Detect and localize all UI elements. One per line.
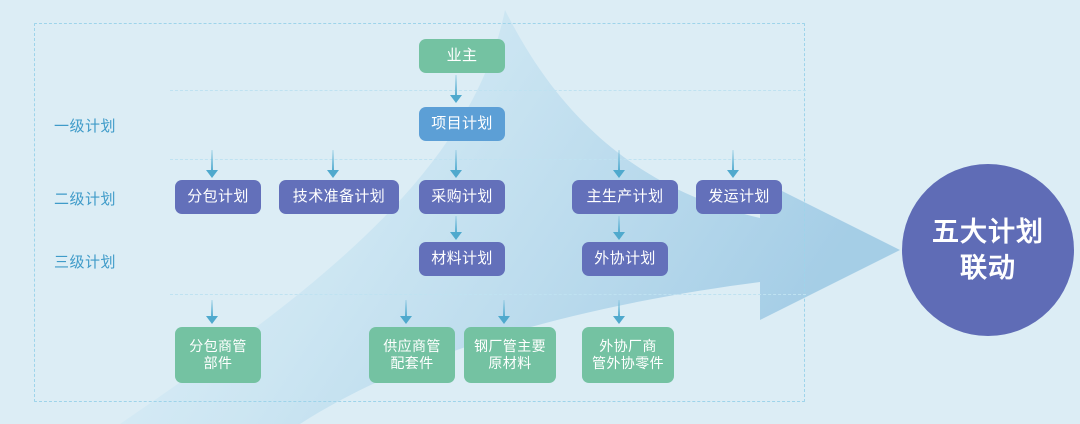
- arrow-head: [450, 170, 462, 178]
- diagram-canvas: 一级计划二级计划三级计划 业主项目计划分包计划技术准备计划采购计划主生产计划发运…: [0, 0, 1080, 424]
- arrow-owner-to-project-icon: [450, 75, 462, 103]
- arrow-head: [498, 316, 510, 324]
- node-label: 材料计划: [431, 250, 493, 269]
- arrow-shaft: [332, 150, 334, 170]
- node-label: 业主: [447, 47, 478, 66]
- arrow-head: [727, 170, 739, 178]
- node-label: 采购计划: [431, 188, 493, 207]
- level-label-level-2: 二级计划: [54, 188, 116, 209]
- arrow-head: [206, 316, 218, 324]
- result-circle-five-plans-linkage[interactable]: 五大计划联动: [902, 164, 1074, 336]
- arrow-shaft: [732, 150, 734, 170]
- arrow-to-subcontractor-icon: [206, 300, 218, 324]
- arrow-to-material-icon: [450, 216, 462, 240]
- node-owner[interactable]: 业主: [419, 39, 505, 73]
- arrow-shaft: [503, 300, 505, 316]
- level-label-level-3: 三级计划: [54, 251, 116, 272]
- vendor-node-line2: 管外协零件: [592, 355, 664, 373]
- structure-layer: 一级计划二级计划三级计划 业主项目计划分包计划技术准备计划采购计划主生产计划发运…: [0, 0, 1080, 424]
- arrow-to-mainprod-icon: [613, 150, 625, 178]
- arrow-to-subcontract-icon: [206, 150, 218, 178]
- node-tech-prep-plan[interactable]: 技术准备计划: [279, 180, 399, 214]
- vendor-node-supplier-fittings[interactable]: 供应商管配套件: [369, 327, 455, 383]
- node-purchase-plan[interactable]: 采购计划: [419, 180, 505, 214]
- level-label-level-1: 一级计划: [54, 115, 116, 136]
- arrow-shaft: [618, 216, 620, 232]
- arrow-head: [206, 170, 218, 178]
- node-label: 发运计划: [708, 188, 770, 207]
- node-label: 技术准备计划: [293, 188, 385, 207]
- node-label: 外协计划: [594, 250, 656, 269]
- arrow-shaft: [455, 150, 457, 170]
- vendor-node-line2: 部件: [204, 355, 233, 373]
- node-shipping-plan[interactable]: 发运计划: [696, 180, 782, 214]
- arrow-to-outsourceplan-icon: [613, 216, 625, 240]
- vendor-node-line1: 分包商管: [189, 338, 247, 356]
- arrow-to-purchase-icon: [450, 150, 462, 178]
- arrow-shaft: [455, 216, 457, 232]
- vendor-node-steelmill-raw[interactable]: 钢厂管主要原材料: [464, 327, 556, 383]
- arrow-head: [327, 170, 339, 178]
- node-project-plan[interactable]: 项目计划: [419, 107, 505, 141]
- arrow-shaft: [211, 150, 213, 170]
- node-material-plan[interactable]: 材料计划: [419, 242, 505, 276]
- arrow-to-techprep-icon: [327, 150, 339, 178]
- vendor-node-line1: 供应商管: [383, 338, 441, 356]
- result-line2: 联动: [960, 250, 1016, 286]
- separator-sep-owner-level1: [170, 90, 806, 91]
- vendor-node-line2: 原材料: [488, 355, 531, 373]
- arrow-shaft: [405, 300, 407, 316]
- vendor-node-line1: 外协厂商: [599, 338, 657, 356]
- node-label: 项目计划: [431, 115, 493, 134]
- node-label: 分包计划: [187, 188, 249, 207]
- separator-sep-level1-level2: [170, 159, 806, 160]
- node-label: 主生产计划: [586, 188, 663, 207]
- arrow-head: [450, 95, 462, 103]
- arrow-shaft: [618, 150, 620, 170]
- vendor-node-line2: 配套件: [390, 355, 433, 373]
- arrow-shaft: [455, 75, 457, 95]
- result-line1: 五大计划: [932, 214, 1044, 250]
- arrow-head: [613, 232, 625, 240]
- separator-sep-level3-vendors: [170, 294, 806, 295]
- node-main-prod-plan[interactable]: 主生产计划: [572, 180, 678, 214]
- arrow-shaft: [618, 300, 620, 316]
- vendor-node-subcontractor-parts[interactable]: 分包商管部件: [175, 327, 261, 383]
- arrow-head: [400, 316, 412, 324]
- arrow-head: [613, 316, 625, 324]
- arrow-to-shipping-icon: [727, 150, 739, 178]
- node-subcontract-plan[interactable]: 分包计划: [175, 180, 261, 214]
- arrow-head: [450, 232, 462, 240]
- arrow-head: [613, 170, 625, 178]
- arrow-shaft: [211, 300, 213, 316]
- node-outsource-plan[interactable]: 外协计划: [582, 242, 668, 276]
- arrow-to-supplier-icon: [400, 300, 412, 324]
- vendor-node-outsource-parts[interactable]: 外协厂商管外协零件: [582, 327, 674, 383]
- arrow-to-steelmill-icon: [498, 300, 510, 324]
- arrow-to-outsourceparts-icon: [613, 300, 625, 324]
- vendor-node-line1: 钢厂管主要: [474, 338, 546, 356]
